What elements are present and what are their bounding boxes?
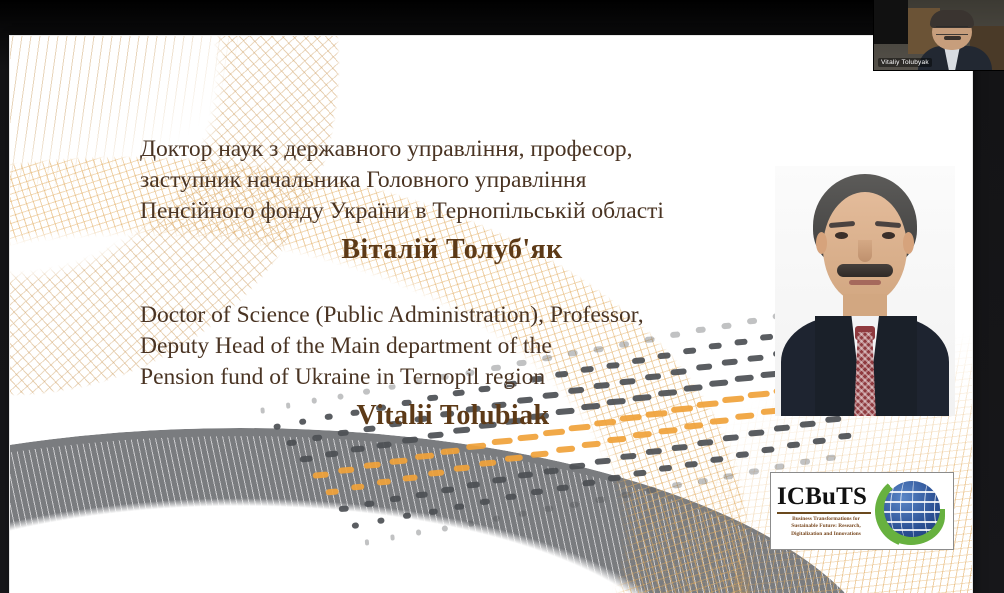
decor-dash bbox=[621, 491, 631, 498]
portrait-eye-left bbox=[835, 232, 848, 239]
decor-dash bbox=[556, 445, 575, 453]
portrait-mouth bbox=[849, 280, 881, 285]
decor-dash bbox=[428, 508, 437, 515]
decor-dash bbox=[620, 453, 636, 460]
decor-dash bbox=[312, 435, 323, 442]
decor-dash bbox=[453, 464, 470, 471]
decor-dash bbox=[454, 503, 464, 510]
decor-dash bbox=[517, 433, 539, 441]
portrait-ear-left bbox=[816, 232, 827, 254]
decor-dash bbox=[672, 482, 682, 489]
decor-dash bbox=[787, 442, 800, 449]
decor-dash bbox=[748, 391, 770, 399]
en-line-1: Doctor of Science (Public Administration… bbox=[140, 300, 740, 331]
decor-dash bbox=[544, 506, 553, 513]
decor-dash bbox=[556, 484, 569, 491]
decor-dash bbox=[480, 498, 491, 505]
screen-root: Доктор наук з державного управління, про… bbox=[0, 0, 1004, 593]
pip-glasses-icon bbox=[936, 26, 968, 35]
decor-dash bbox=[402, 474, 417, 481]
decor-dash bbox=[774, 463, 784, 470]
globe-longitude bbox=[912, 481, 917, 537]
decor-dash bbox=[736, 451, 749, 458]
decor-dash bbox=[749, 468, 759, 475]
speaker-name-ukrainian: Віталій Толуб'як bbox=[140, 234, 740, 266]
portrait-ear-right bbox=[903, 232, 914, 254]
speaker-portrait-photo bbox=[775, 166, 955, 416]
decor-dash bbox=[569, 462, 585, 469]
english-text-block: Doctor of Science (Public Administration… bbox=[140, 300, 740, 432]
decor-dash bbox=[646, 487, 656, 494]
decor-dash bbox=[825, 415, 841, 422]
decor-dash bbox=[607, 436, 626, 444]
decor-dash bbox=[531, 489, 543, 496]
participant-video-thumbnail[interactable]: Vitaliy Tolubyak bbox=[874, 0, 1004, 70]
decor-dash bbox=[543, 467, 559, 474]
decor-dash bbox=[467, 481, 481, 488]
decor-dash bbox=[492, 438, 513, 446]
decor-dash bbox=[747, 317, 757, 324]
decor-dash bbox=[351, 484, 365, 491]
decor-dash bbox=[633, 431, 652, 439]
en-line-3: Pension fund of Ukraine in Ternopil regi… bbox=[140, 362, 740, 393]
decor-dash bbox=[799, 420, 815, 427]
decor-dash bbox=[376, 441, 391, 448]
decor-dash bbox=[800, 459, 810, 466]
decor-dash bbox=[402, 436, 418, 443]
decor-dash bbox=[390, 496, 402, 503]
en-line-2: Deputy Head of the Main department of th… bbox=[140, 331, 740, 362]
decor-dash bbox=[595, 496, 605, 503]
decor-dash bbox=[748, 429, 764, 436]
portrait-nose bbox=[858, 240, 872, 262]
decor-dash bbox=[339, 505, 349, 512]
decor-dash bbox=[442, 525, 448, 531]
decor-dash bbox=[774, 425, 790, 432]
decor-dash bbox=[493, 515, 501, 522]
decor-dash bbox=[608, 475, 621, 482]
decor-dash bbox=[440, 447, 460, 455]
decor-dash bbox=[569, 501, 579, 508]
ua-line-2: заступник начальника Головного управлінн… bbox=[140, 165, 740, 196]
decor-dash bbox=[365, 539, 369, 545]
decor-dash bbox=[389, 457, 407, 465]
decor-dash bbox=[492, 477, 506, 484]
ukrainian-text-block: Доктор наук з державного управління, про… bbox=[140, 134, 740, 266]
logo-tagline-line-1: Business Transformations for bbox=[777, 516, 875, 523]
decor-dash bbox=[760, 333, 773, 340]
participant-name-label: Vitaliy Tolubyak bbox=[878, 58, 932, 67]
decor-dash bbox=[338, 467, 355, 474]
globe-leaf-icon bbox=[875, 475, 947, 547]
decor-dash bbox=[697, 439, 713, 446]
decor-dash bbox=[351, 446, 366, 453]
ua-line-3: Пенсійного фонду України в Тернопільські… bbox=[140, 196, 740, 227]
decor-dash bbox=[286, 439, 296, 446]
decor-dash bbox=[364, 501, 375, 508]
decor-dash bbox=[505, 494, 516, 501]
decor-dash bbox=[838, 432, 851, 439]
pip-dark-area bbox=[874, 0, 908, 44]
decor-dash bbox=[312, 471, 328, 478]
decor-dash bbox=[530, 450, 549, 458]
decor-dash bbox=[428, 469, 444, 476]
speaker-name-english: Vitalii Tolubiak bbox=[140, 400, 740, 432]
decor-dash bbox=[466, 443, 486, 451]
decor-dash bbox=[325, 451, 339, 458]
decor-dash bbox=[352, 522, 359, 529]
decor-dash bbox=[761, 446, 774, 453]
decor-dash bbox=[377, 479, 392, 486]
decor-dash bbox=[595, 458, 611, 465]
decor-dash bbox=[415, 491, 427, 498]
decor-dash bbox=[518, 472, 533, 479]
decor-dash bbox=[671, 444, 687, 451]
logo-divider bbox=[777, 512, 871, 514]
decor-dash bbox=[812, 437, 825, 444]
decor-dash bbox=[646, 448, 662, 455]
ua-line-1: Доктор наук з державного управління, про… bbox=[140, 134, 740, 165]
decor-dash bbox=[416, 530, 422, 536]
decor-dash bbox=[325, 488, 338, 495]
decor-dash bbox=[364, 462, 382, 469]
decor-dash bbox=[377, 518, 385, 525]
decor-dash bbox=[518, 511, 526, 518]
logo-tagline-line-2: Sustainable Future: Research, bbox=[777, 523, 875, 530]
logo-tagline-line-3: Digitalization and Innovations bbox=[777, 531, 875, 538]
shared-presentation-slide[interactable]: Доктор наук з державного управління, про… bbox=[10, 36, 972, 593]
decor-dash bbox=[427, 431, 444, 438]
decor-dash bbox=[723, 434, 739, 441]
decor-dash bbox=[684, 460, 697, 467]
decor-dash bbox=[403, 513, 412, 520]
decor-dash bbox=[826, 454, 836, 461]
decor-dash bbox=[581, 441, 600, 449]
decor-dash bbox=[505, 455, 523, 463]
decor-dash bbox=[723, 473, 733, 480]
decor-dash bbox=[582, 479, 595, 486]
decor-dash bbox=[467, 520, 474, 527]
decor-dash bbox=[479, 460, 496, 467]
decor-dash bbox=[390, 534, 395, 540]
decor-dash bbox=[441, 486, 454, 493]
decor-dash bbox=[697, 477, 707, 484]
decor-dash bbox=[299, 455, 312, 462]
logo-title: ICBuTS bbox=[777, 484, 875, 509]
icbuts-conference-logo: ICBuTS Business Transformations for Sust… bbox=[770, 472, 954, 550]
portrait-eye-right bbox=[882, 232, 895, 239]
decor-dash bbox=[747, 354, 763, 361]
portrait-moustache bbox=[837, 264, 893, 277]
decor-dash bbox=[659, 465, 672, 472]
decor-dash bbox=[415, 452, 434, 460]
decor-dash bbox=[633, 470, 646, 477]
pip-moustache bbox=[944, 36, 961, 40]
decor-dash bbox=[710, 456, 723, 463]
